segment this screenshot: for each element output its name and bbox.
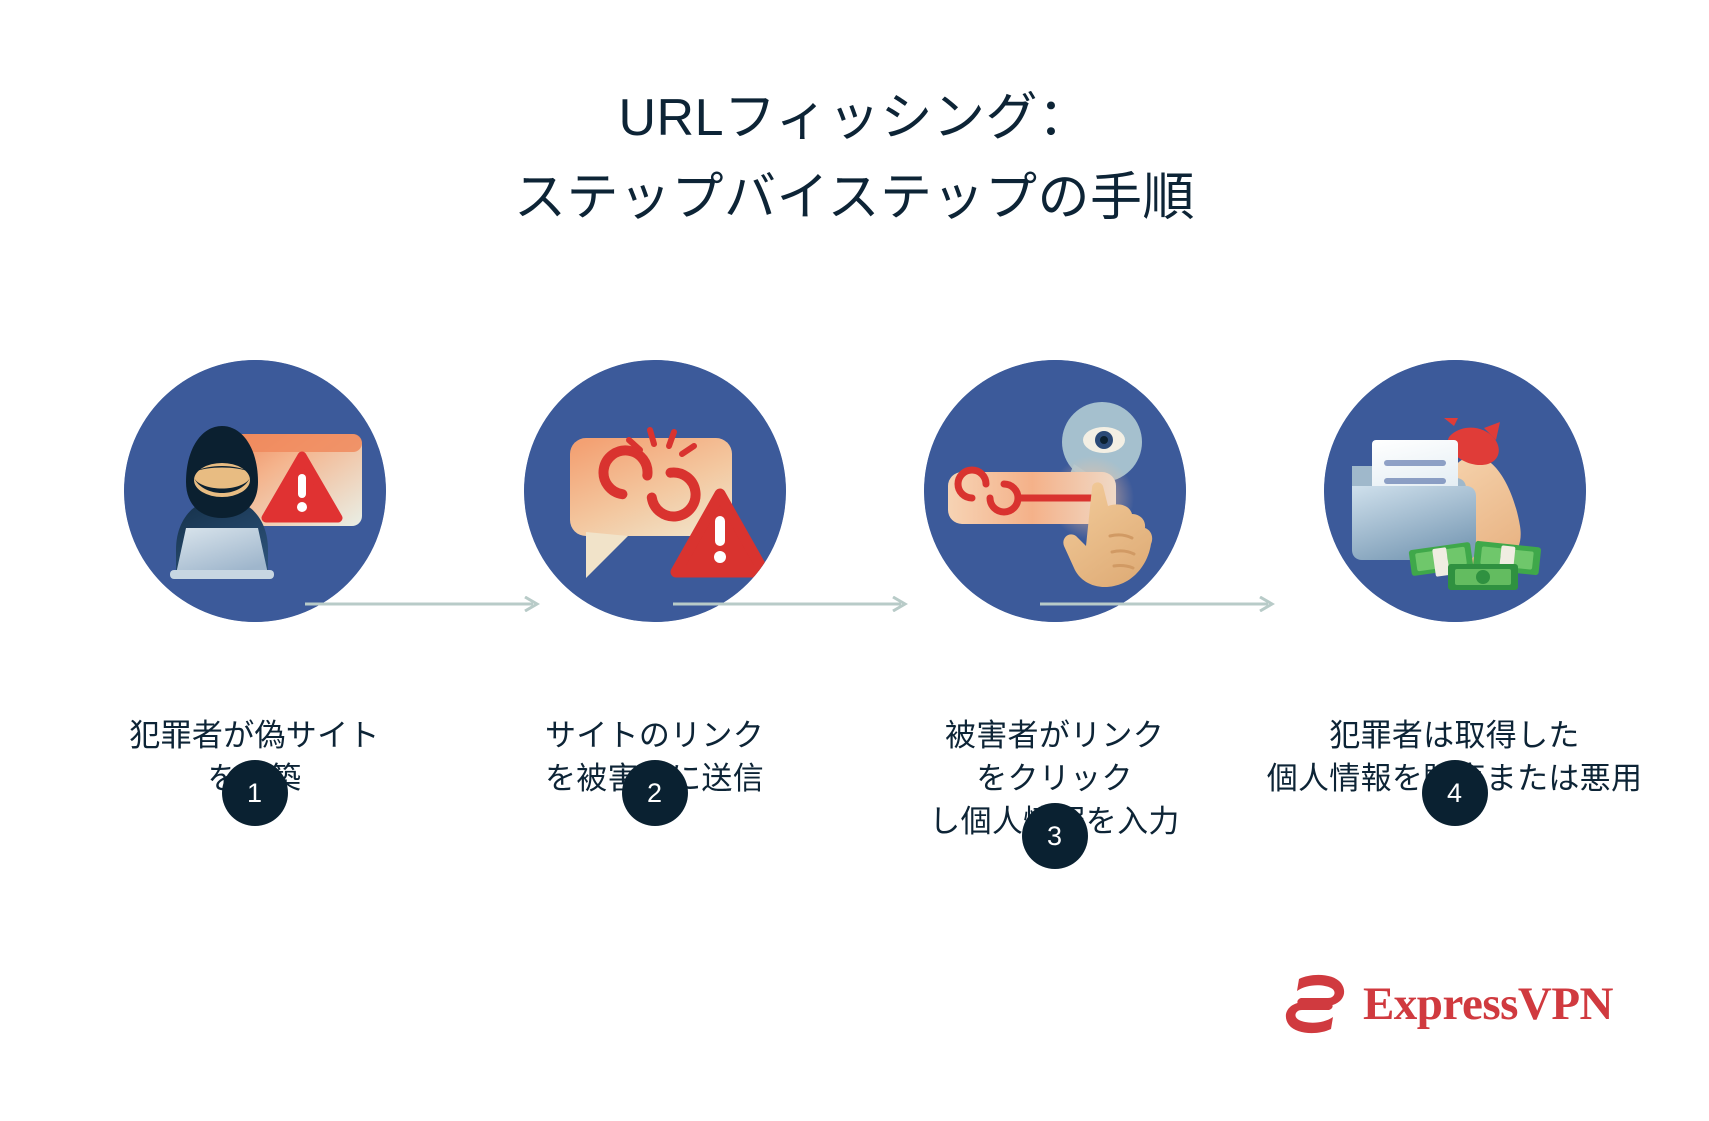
arrow-step-1-to-2 xyxy=(305,596,545,612)
step-3-number-badge: 3 xyxy=(1022,803,1088,869)
step-2-number-badge: 2 xyxy=(622,760,688,826)
expressvpn-wordmark: ExpressVPN xyxy=(1363,981,1613,1028)
arrow-step-2-to-3 xyxy=(673,596,913,612)
page-title: URLフィッシング： ステップバイステップの手順 xyxy=(0,78,1709,238)
hacker-laptop-warning-icon xyxy=(124,360,386,622)
step-4-number-badge: 4 xyxy=(1422,760,1488,826)
step-1: 1 犯罪者が偽サイト を構築 xyxy=(55,360,455,800)
infographic-page: URLフィッシング： ステップバイステップの手順 xyxy=(0,0,1709,1121)
step-2-icon-circle xyxy=(524,360,786,622)
step-4-icon-circle xyxy=(1324,360,1586,622)
arrow-step-3-to-4 xyxy=(1040,596,1280,612)
step-3-icon-circle xyxy=(924,360,1186,622)
step-4: 4 犯罪者は取得した 個人情報を販売または悪用 xyxy=(1255,360,1655,800)
link-click-hand-eye-icon xyxy=(924,360,1186,622)
page-title-line-1: URLフィッシング： xyxy=(0,78,1709,158)
step-2: 2 サイトのリンク を被害者に送信 xyxy=(455,360,855,800)
step-1-number-badge: 1 xyxy=(222,760,288,826)
message-broken-link-warning-icon xyxy=(524,360,786,622)
expressvpn-logo: ExpressVPN xyxy=(1281,973,1613,1035)
folder-money-thief-icon xyxy=(1324,360,1586,622)
page-title-line-2: ステップバイステップの手順 xyxy=(0,158,1709,238)
step-1-icon-circle xyxy=(124,360,386,622)
expressvpn-logo-mark xyxy=(1281,973,1349,1035)
